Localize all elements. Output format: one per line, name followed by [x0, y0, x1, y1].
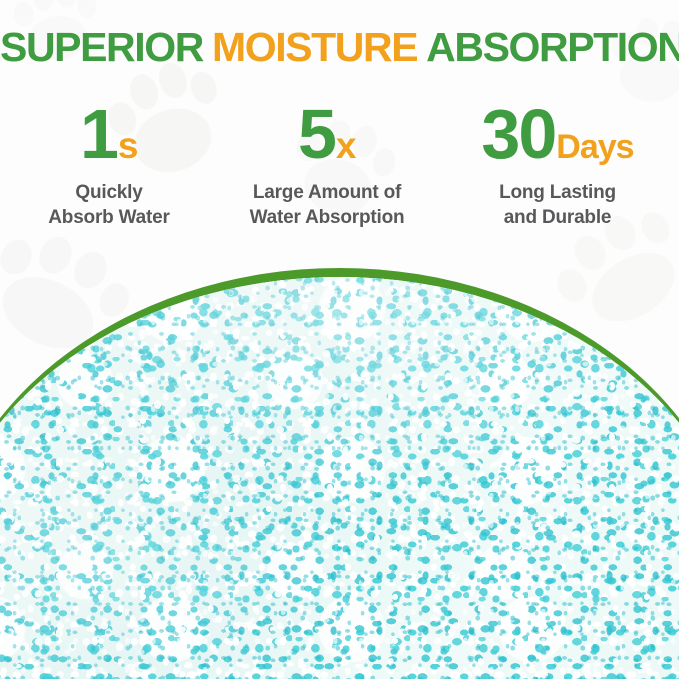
stat-figure: 1s: [0, 98, 218, 172]
title-word-moisture: MOISTURE: [212, 24, 417, 70]
litter-pan-product-image: [0, 268, 679, 679]
title-word-absorption: ABSORPTION: [426, 24, 679, 70]
stat-figure: 30Days: [436, 98, 679, 172]
title-word-superior: SUPERIOR: [0, 24, 203, 70]
stat-caption-line: Long Lasting: [436, 180, 679, 205]
crystal-granules-texture: [0, 277, 679, 679]
stat-caption-line: Large Amount of: [218, 180, 436, 205]
stat-number: 30: [481, 95, 555, 173]
stat-block-absorb-amount: 5x Large Amount of Water Absorption: [218, 98, 436, 230]
stat-number: 5: [298, 95, 335, 173]
stat-block-absorb-speed: 1s Quickly Absorb Water: [0, 98, 218, 230]
stat-number: 1: [80, 95, 117, 173]
stat-block-duration: 30Days Long Lasting and Durable: [436, 98, 679, 230]
stat-unit: s: [118, 125, 138, 166]
stat-figure: 5x: [218, 98, 436, 172]
stat-caption-line: Absorb Water: [0, 205, 218, 230]
page-title: SUPERIORMOISTUREABSORPTION: [0, 24, 679, 70]
stat-caption: Quickly Absorb Water: [0, 180, 218, 230]
product-feature-banner: SUPERIORMOISTUREABSORPTION 1s Quickly Ab…: [0, 0, 679, 679]
stat-unit: Days: [556, 128, 633, 166]
stats-row: 1s Quickly Absorb Water 5x Large Amount …: [0, 98, 679, 230]
stat-caption-line: Water Absorption: [218, 205, 436, 230]
stat-unit: x: [336, 125, 356, 166]
stat-caption-line: and Durable: [436, 205, 679, 230]
stat-caption: Large Amount of Water Absorption: [218, 180, 436, 230]
stat-caption-line: Quickly: [0, 180, 218, 205]
stat-caption: Long Lasting and Durable: [436, 180, 679, 230]
